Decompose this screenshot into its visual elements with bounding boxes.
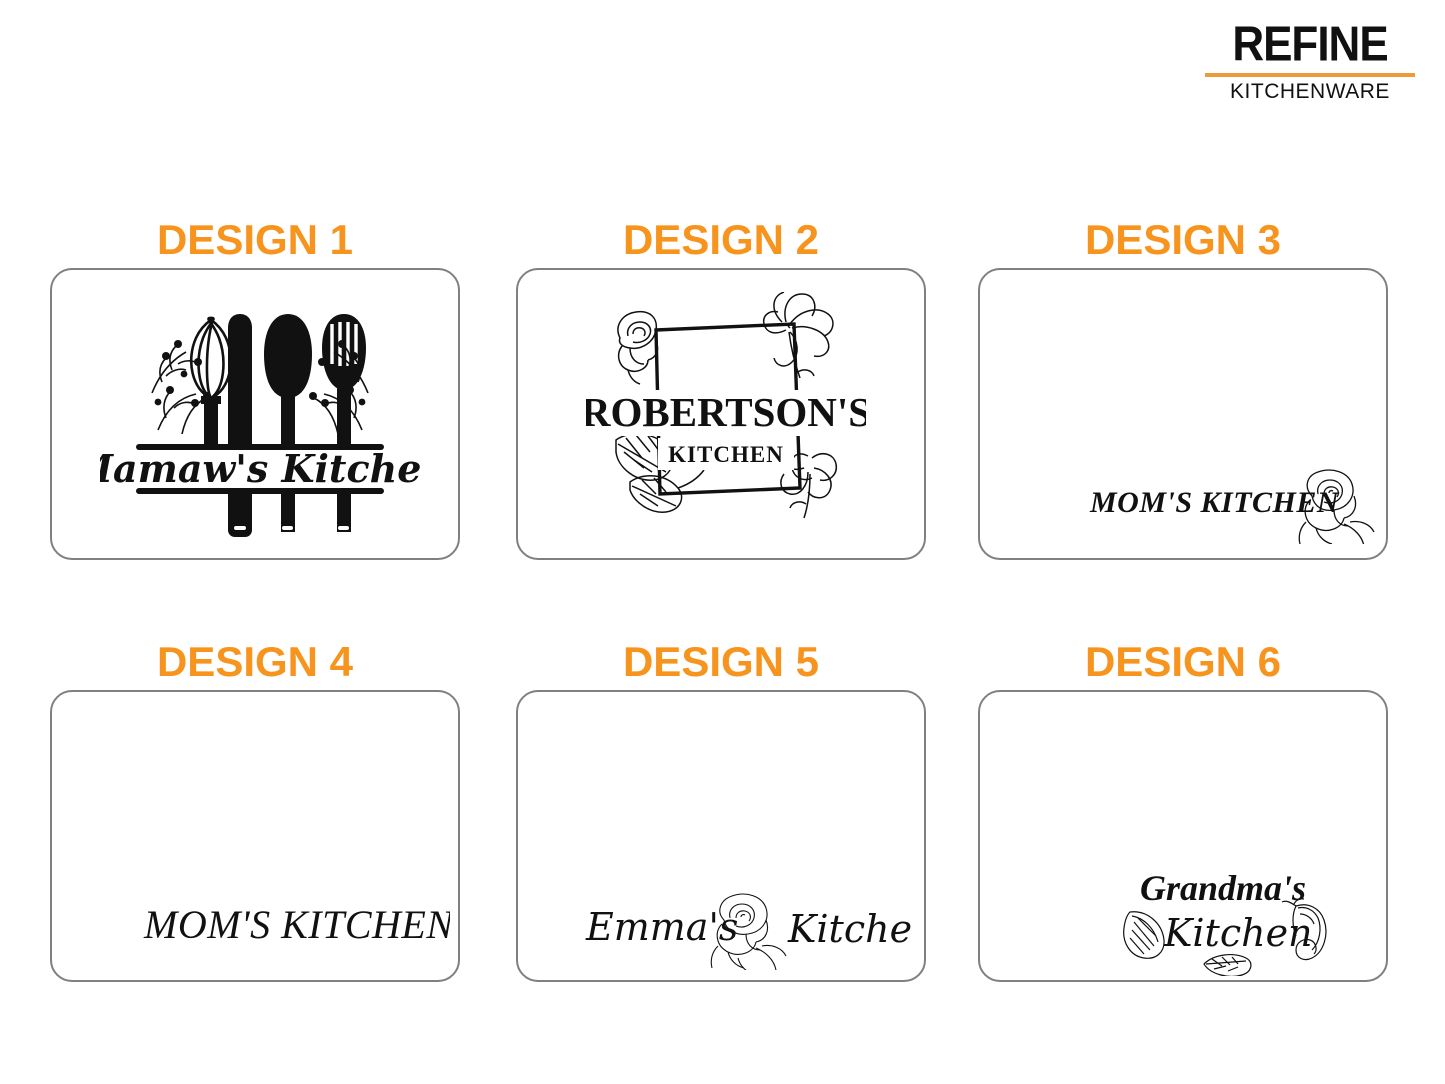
design-3-engraving-text: MOM'S KITCHEN: [1089, 486, 1340, 519]
design-cell-3[interactable]: DESIGN 3 MOM'S KITCHEN: [978, 212, 1388, 560]
rose-icon: [618, 312, 658, 384]
design-grid: DESIGN 1: [0, 122, 1445, 1084]
design-4-engraving-text: MOM'S KITCHEN: [143, 902, 450, 947]
lily-icon-top: [764, 292, 833, 378]
design-card-5[interactable]: Emma's Kitchen: [516, 690, 926, 982]
design-6-artwork: Grandma's Kitchen: [1108, 860, 1358, 976]
design-cell-6[interactable]: DESIGN 6 Grandma's Kitchen: [978, 634, 1388, 982]
design-cell-4[interactable]: DESIGN 4 MOM'S KITCHEN: [50, 634, 460, 982]
whisk-icon: [191, 318, 231, 446]
design-cell-2[interactable]: DESIGN 2: [516, 212, 926, 560]
logo-divider: [1205, 73, 1415, 77]
design-2-engraving-text: ROBERTSON'S: [586, 389, 866, 435]
utensil-handles: [228, 494, 351, 537]
design-card-1[interactable]: Mamaw's Kitchen: [50, 268, 460, 560]
design-2-artwork: ROBERTSON'S KITCHEN: [586, 292, 866, 538]
design-4-artwork: MOM'S KITCHEN: [140, 890, 450, 962]
design-cell-5[interactable]: DESIGN 5 Emma's: [516, 634, 926, 982]
design-label-6: DESIGN 6: [978, 634, 1388, 690]
design-1-artwork: Mamaw's Kitchen: [100, 298, 420, 538]
leaf-icon: [1204, 955, 1251, 976]
design-label-1: DESIGN 1: [50, 212, 460, 268]
page-title: PERSONALIZATION OPTIONS: [38, 27, 763, 85]
design-6-engraving-text: Grandma's: [1140, 868, 1306, 908]
design-5-engraving-text: Emma's: [585, 905, 738, 949]
design-3-artwork: MOM'S KITCHEN: [1086, 460, 1376, 544]
design-label-2: DESIGN 2: [516, 212, 926, 268]
design-cell-1[interactable]: DESIGN 1: [50, 212, 460, 560]
design-5-artwork: Emma's Kitchen: [584, 884, 914, 970]
design-label-5: DESIGN 5: [516, 634, 926, 690]
brand-name: REFINE: [1205, 20, 1415, 69]
design-label-4: DESIGN 4: [50, 634, 460, 690]
design-card-3[interactable]: MOM'S KITCHEN: [978, 268, 1388, 560]
design-1-engraving-text: Mamaw's Kitchen: [100, 446, 420, 491]
brand-logo: REFINE KITCHENWARE: [1205, 20, 1415, 102]
design-card-6[interactable]: Grandma's Kitchen: [978, 690, 1388, 982]
brand-tagline: KITCHENWARE: [1205, 81, 1415, 102]
design-card-2[interactable]: ROBERTSON'S KITCHEN: [516, 268, 926, 560]
lemon-slice-icon: [1124, 912, 1164, 959]
design-label-3: DESIGN 3: [978, 212, 1388, 268]
design-2-engraving-subtext: KITCHEN: [668, 442, 784, 467]
design-card-4[interactable]: MOM'S KITCHEN: [50, 690, 460, 982]
design-6-engraving-subtext: Kitchen: [1163, 911, 1313, 955]
page-header: PERSONALIZATION OPTIONS REFINE KITCHENWA…: [0, 0, 1445, 122]
design-5-engraving-subtext: Kitchen: [787, 907, 914, 951]
